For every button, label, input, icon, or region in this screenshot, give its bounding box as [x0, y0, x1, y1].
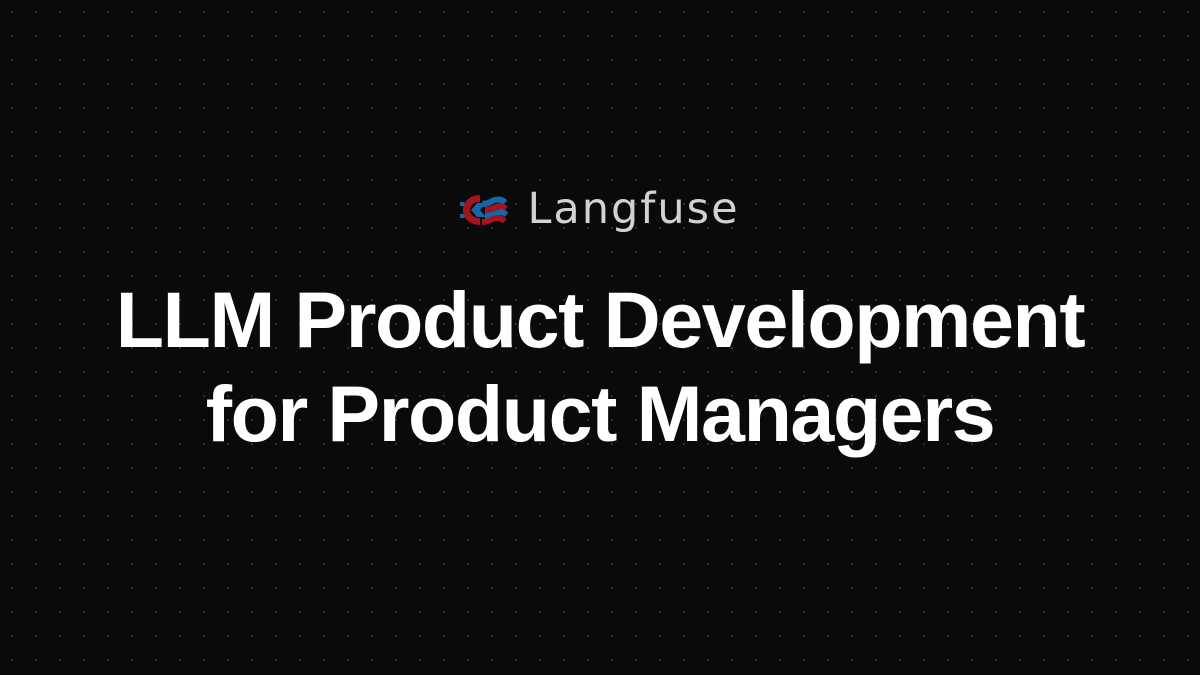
- page-title: LLM Product Development for Product Mana…: [116, 273, 1085, 461]
- page-title-line-2: for Product Managers: [206, 367, 994, 461]
- page-title-line-1: LLM Product Development: [116, 273, 1085, 367]
- langfuse-logo-icon: [460, 193, 508, 227]
- content-stack: Langfuse LLM Product Development for Pro…: [0, 188, 1200, 461]
- brand-wordmark: Langfuse: [527, 188, 739, 231]
- og-card-root: Langfuse LLM Product Development for Pro…: [0, 0, 1200, 675]
- brand-row: Langfuse: [460, 188, 739, 231]
